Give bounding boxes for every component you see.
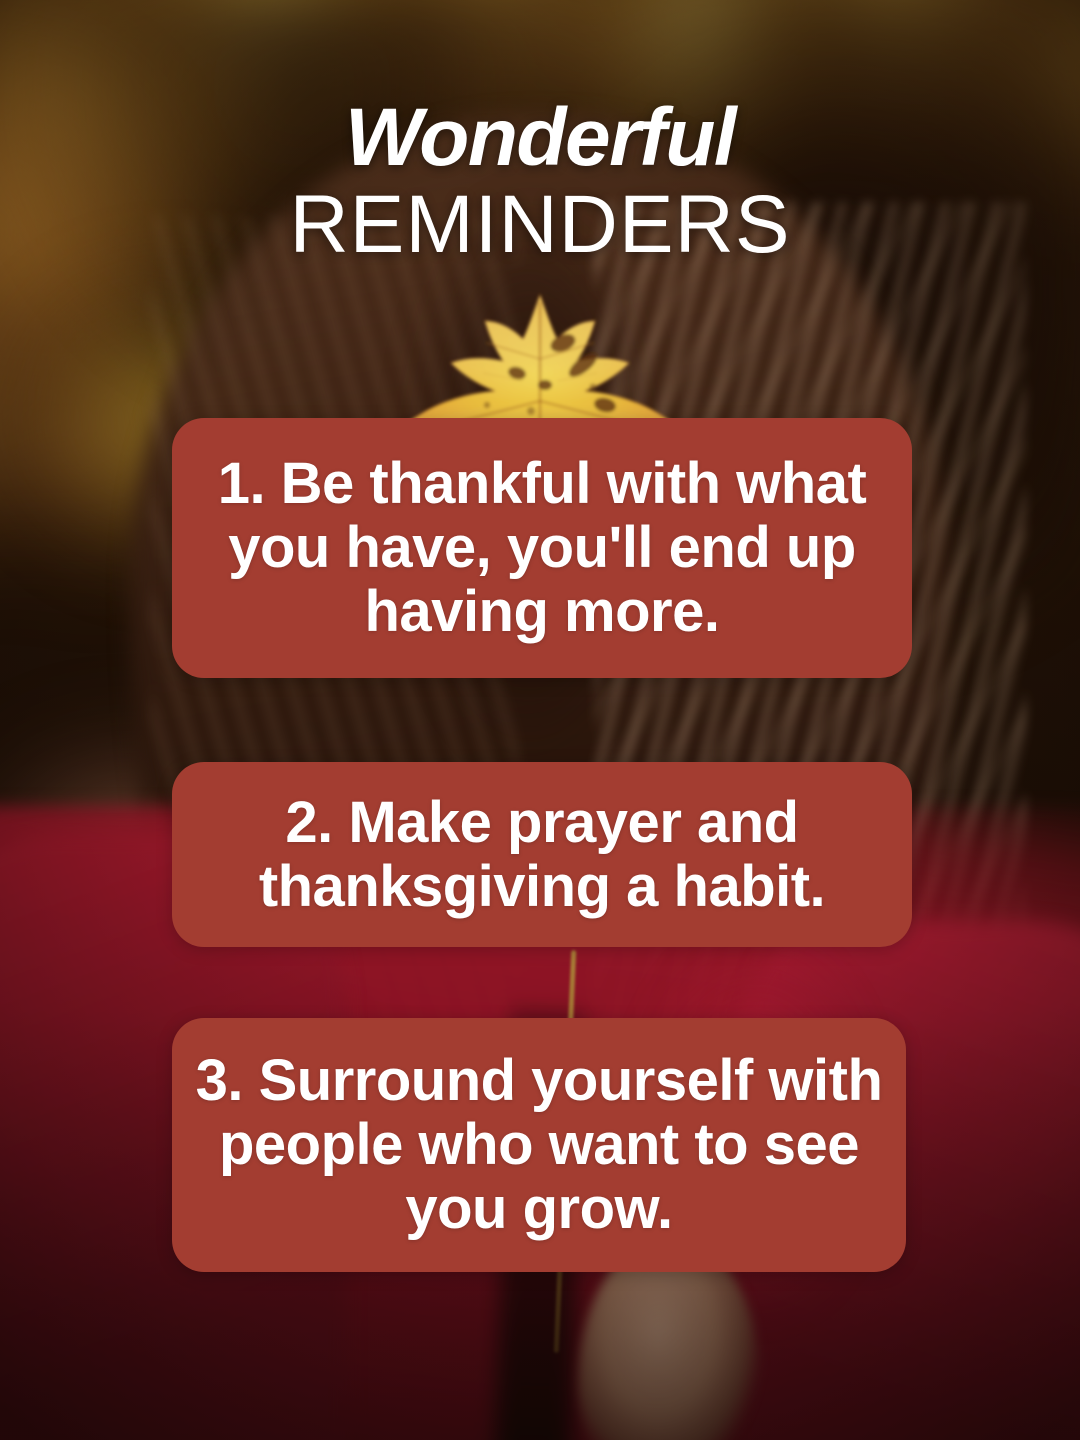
reminder-card-3: 3. Surround yourself with people who wan…	[172, 1018, 906, 1272]
poster-canvas: Wonderful REMINDERS 1. Be thankful with …	[0, 0, 1080, 1440]
reminder-card-2-text: 2. Make prayer and thanksgiving a habit.	[172, 791, 912, 919]
reminder-card-3-text: 3. Surround yourself with people who wan…	[172, 1049, 906, 1240]
reminder-card-2: 2. Make prayer and thanksgiving a habit.	[172, 762, 912, 947]
reminder-card-1: 1. Be thankful with what you have, you'l…	[172, 418, 912, 678]
reminder-card-1-text: 1. Be thankful with what you have, you'l…	[172, 452, 912, 643]
reminder-card-list: 1. Be thankful with what you have, you'l…	[0, 0, 1080, 1440]
